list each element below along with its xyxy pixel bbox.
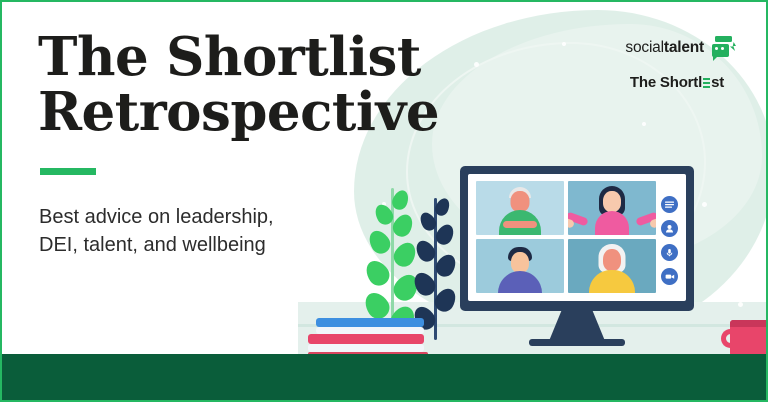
monitor-stand-base	[529, 339, 625, 346]
participant-tile-2[interactable]	[568, 181, 656, 235]
video-call-monitor	[460, 166, 694, 311]
accent-rule	[40, 168, 96, 175]
brand-name-light: social	[625, 39, 663, 56]
call-controls	[661, 196, 678, 285]
decor-dot	[738, 302, 743, 307]
participant-tile-3[interactable]	[476, 239, 564, 293]
decor-dot	[642, 122, 646, 126]
brand-logo: socialtalent	[625, 36, 736, 60]
video-camera-icon[interactable]	[661, 268, 678, 285]
menu-icon[interactable]	[661, 196, 678, 213]
subtitle-line-2: DEI, talent, and wellbeing	[39, 234, 266, 256]
speech-bubble-logo-icon	[710, 36, 736, 60]
book-red	[308, 334, 424, 344]
participants-icon[interactable]	[661, 220, 678, 237]
book-blue-pages	[316, 327, 424, 334]
monitor-screen	[468, 174, 686, 301]
sub-brand-prefix: The Shortl	[630, 74, 702, 91]
headline-line-2: Retrospective	[38, 81, 439, 143]
brand-wordmark: socialtalent	[625, 39, 704, 57]
sub-brand-shortlist: The Shortlst	[630, 74, 724, 91]
headline-line-1: The Shortlist	[38, 26, 421, 88]
book-blue	[316, 318, 424, 327]
decor-dot	[562, 42, 566, 46]
participant-tile-4[interactable]	[568, 239, 656, 293]
participant-tile-1[interactable]	[476, 181, 564, 235]
footer-band	[2, 354, 768, 400]
brand-name-bold: talent	[664, 39, 704, 56]
participant-grid	[476, 181, 656, 293]
decor-dot	[474, 62, 479, 67]
book-red-pages	[308, 344, 424, 352]
headline-block: The Shortlist Retrospective	[38, 30, 458, 140]
subtitle-block: Best advice on leadership, DEI, talent, …	[39, 203, 369, 260]
microphone-icon[interactable]	[661, 244, 678, 261]
decor-dot	[702, 202, 707, 207]
sub-brand-suffix: st	[711, 74, 724, 91]
poster-canvas: The Shortlist Retrospective Best advice …	[0, 0, 768, 402]
subtitle-line-1: Best advice on leadership,	[39, 206, 274, 228]
equalizer-i-glyph	[703, 78, 710, 90]
